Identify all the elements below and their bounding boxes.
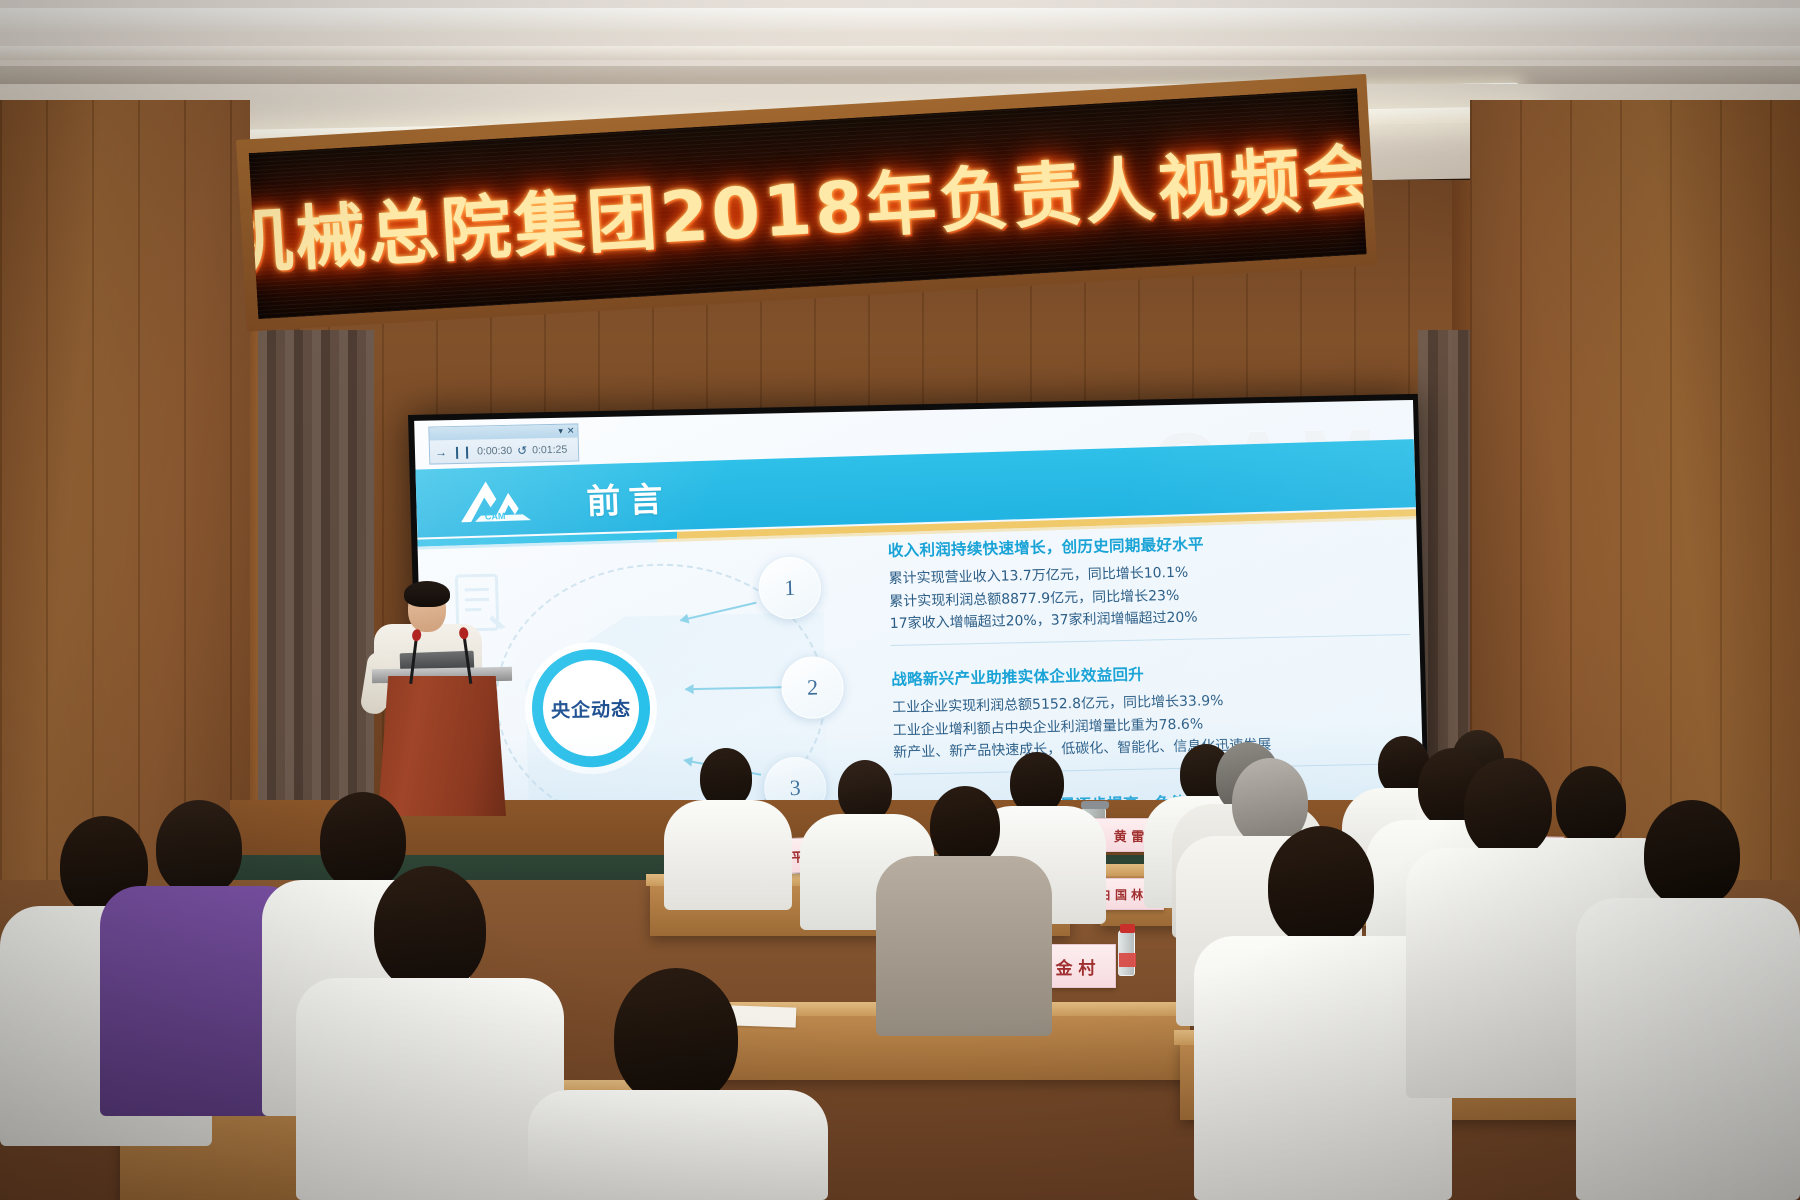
close-icon[interactable]: ✕ bbox=[567, 427, 575, 436]
play-next-icon[interactable]: → bbox=[435, 446, 447, 458]
block-heading: 收入利润持续快速增长，创历史同期最好水平 bbox=[888, 528, 1408, 561]
speaker-hair bbox=[404, 581, 450, 607]
elapsed-time: 0:00:30 bbox=[477, 444, 512, 457]
chevron-down-icon[interactable]: ▾ bbox=[558, 427, 563, 436]
replay-icon[interactable]: ↺ bbox=[517, 444, 527, 456]
conference-room-scene: 机械总院集团2018年负责人视频会议 CAM ▾ ✕ → ❙❙ 0:00:30 … bbox=[0, 0, 1800, 1200]
ceiling-strip bbox=[0, 46, 1800, 60]
svg-text:CAM: CAM bbox=[485, 511, 506, 522]
media-player-controls: → ❙❙ 0:00:30 ↺ 0:01:25 bbox=[430, 437, 579, 463]
ceiling-recess bbox=[0, 66, 1800, 84]
block-heading: 战略新兴产业助推实体企业效益回升 bbox=[891, 657, 1411, 690]
cam-logo-icon: CAM bbox=[455, 474, 543, 529]
water-bottle bbox=[1118, 930, 1135, 976]
diagram-core-label: 央企动态 bbox=[551, 694, 632, 723]
pause-icon[interactable]: ❙❙ bbox=[452, 445, 472, 457]
block-divider bbox=[890, 634, 1410, 646]
block-divider bbox=[894, 763, 1414, 775]
podium bbox=[378, 676, 506, 816]
slide-title: 前言 bbox=[585, 471, 671, 523]
slide-block: 收入利润持续快速增长，创历史同期最好水平 累计实现营业收入13.7万亿元，同比增… bbox=[888, 528, 1411, 646]
total-time: 0:01:25 bbox=[532, 443, 567, 456]
slide-block: 战略新兴产业助推实体企业效益回升 工业企业实现利润总额5152.8亿元，同比增长… bbox=[891, 657, 1414, 775]
ceiling-strip bbox=[0, 8, 1800, 34]
diagram-node: 2 bbox=[781, 656, 845, 719]
diagram-node: 1 bbox=[758, 556, 822, 619]
media-player-toolbar[interactable]: ▾ ✕ → ❙❙ 0:00:30 ↺ 0:01:25 bbox=[428, 423, 579, 464]
